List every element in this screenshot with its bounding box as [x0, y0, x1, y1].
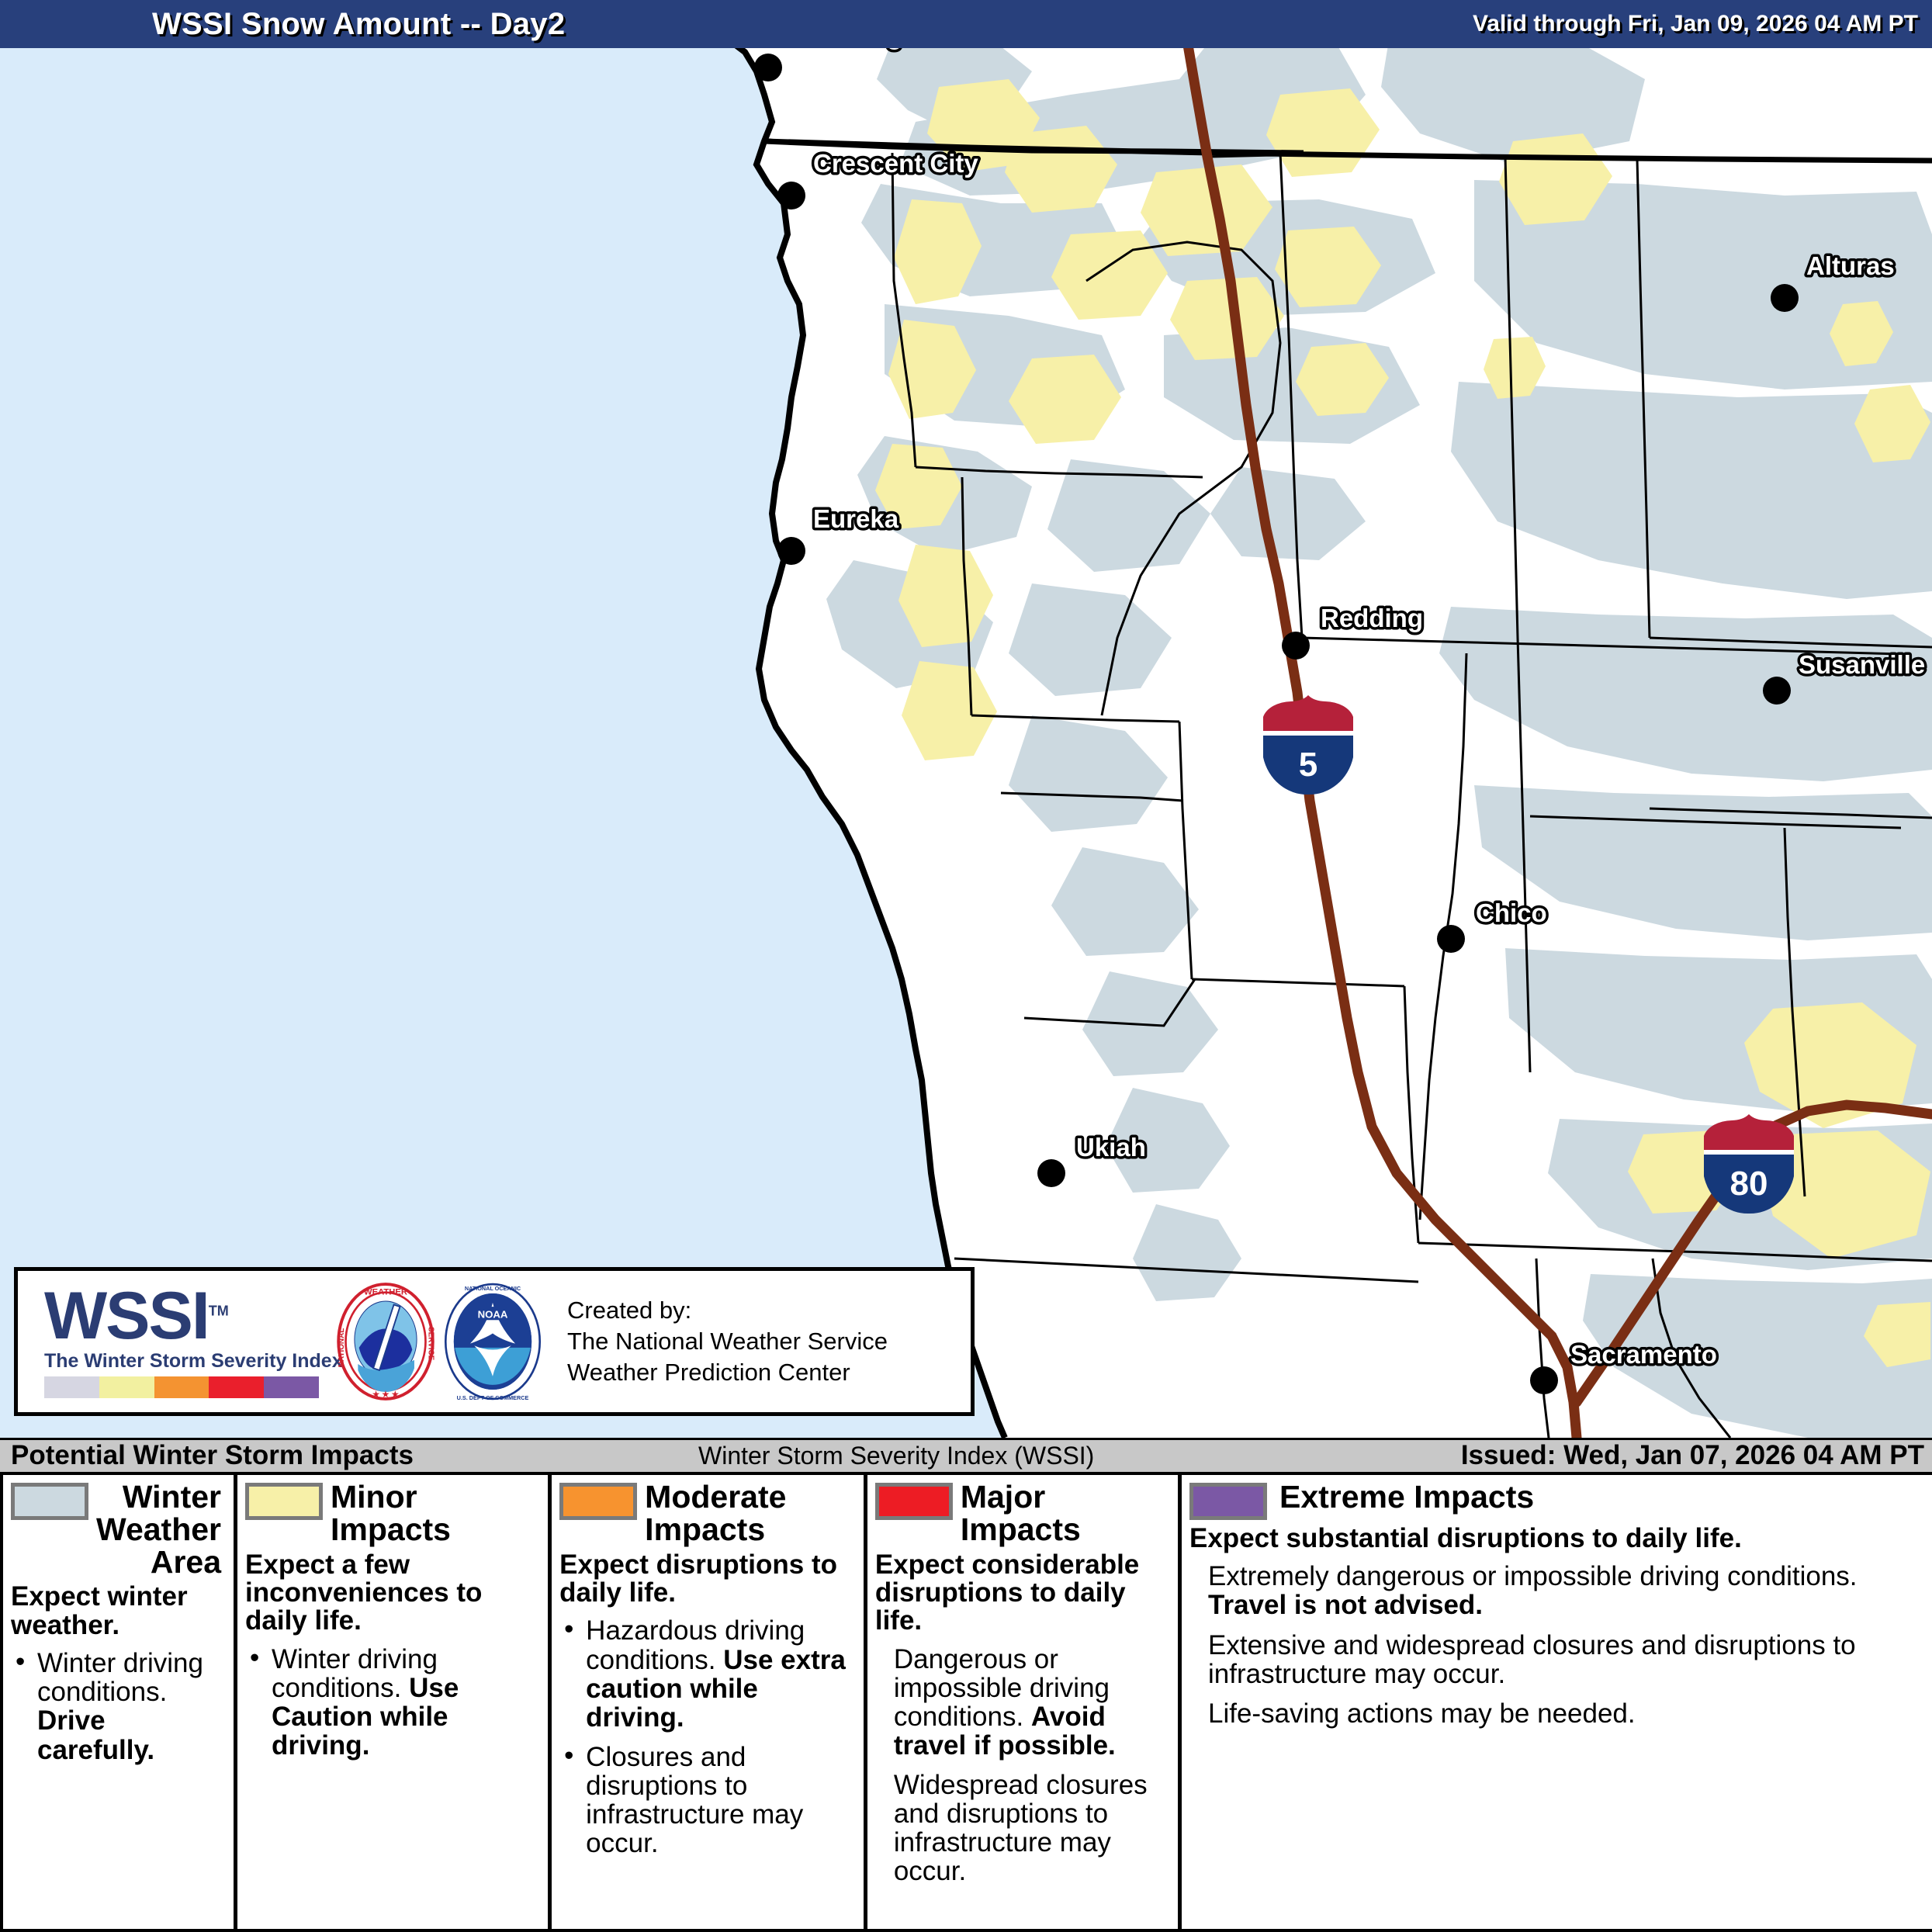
city-label: Susanville [1799, 650, 1925, 679]
legend-header: Major Impacts [875, 1481, 1172, 1546]
created-by-line-3: Weather Prediction Center [567, 1357, 888, 1388]
wssi-subtitle-label: Winter Storm Severity Index (WSSI) [698, 1441, 1094, 1470]
wssi-tagline: The Winter Storm Severity Index [44, 1350, 328, 1373]
wssi-logo-panel: WSSITM The Winter Storm Severity Index W… [14, 1267, 975, 1416]
legend-category-name: Winter Weather Area [96, 1481, 227, 1578]
svg-text:U.S. DEPT OF COMMERCE: U.S. DEPT OF COMMERCE [457, 1394, 529, 1401]
created-by-line-2: The National Weather Service [567, 1326, 888, 1357]
legend-summary: Expect a few inconveniences to daily lif… [245, 1551, 542, 1636]
legend-bullet-emphasis: Drive carefully. [37, 1705, 154, 1764]
legend-bullet: Extremely dangerous or impossible drivin… [1189, 1562, 1926, 1619]
legend-column-extreme-impacts: Extreme ImpactsExpect substantial disrup… [1182, 1475, 1932, 1929]
trademark-symbol: TM [209, 1304, 229, 1319]
wssi-map-page: WSSI Snow Amount -- Day2 Valid through F… [0, 0, 1932, 1932]
city-label: Redding [1321, 604, 1423, 632]
map-canvas[interactable]: 5 80 BrookingsCrescent CityEurekaAlturas… [0, 48, 1932, 1438]
legend-bullet: Life-saving actions may be needed. [1189, 1699, 1926, 1728]
legend-color-swatch [1189, 1483, 1267, 1520]
legend-header: Winter Weather Area [11, 1481, 227, 1578]
legend-bullet-list: Dangerous or impossible driving conditio… [875, 1645, 1172, 1886]
legend-header: Extreme Impacts [1189, 1481, 1926, 1520]
brand-swatch-3 [209, 1376, 264, 1398]
legend-bullet-list: Winter driving conditions. Drive careful… [11, 1649, 227, 1764]
wssi-color-scale [44, 1376, 319, 1398]
svg-text:NATIONAL: NATIONAL [338, 1328, 346, 1367]
legend-category-name: Major Impacts [961, 1481, 1172, 1546]
legend-bullet-emphasis: Travel is not advised. [1208, 1590, 1483, 1620]
legend-bullet-text: Extremely dangerous or impossible drivin… [1208, 1561, 1858, 1591]
legend-bullet: Closures and disruptions to infrastructu… [559, 1743, 857, 1858]
legend-bullet-list: Extremely dangerous or impossible drivin… [1189, 1562, 1926, 1727]
page-title: WSSI Snow Amount -- Day2 [152, 7, 565, 42]
legend-column-winter-weather-area: Winter Weather AreaExpect winter weather… [0, 1475, 237, 1929]
city-dot [1037, 1159, 1065, 1187]
city-dot [1530, 1366, 1558, 1394]
brand-swatch-4 [264, 1376, 319, 1398]
svg-text:NATIONAL OCEANIC: NATIONAL OCEANIC [465, 1285, 521, 1292]
created-by-line-1: Created by: [567, 1295, 888, 1326]
brand-swatch-2 [154, 1376, 209, 1398]
legend-header: Moderate Impacts [559, 1481, 857, 1546]
legend-column-minor-impacts: Minor ImpactsExpect a few inconveniences… [237, 1475, 552, 1929]
legend-column-major-impacts: Major ImpactsExpect considerable disrupt… [867, 1475, 1182, 1929]
legend-color-swatch [559, 1483, 637, 1520]
legend-bullet: Dangerous or impossible driving conditio… [875, 1645, 1172, 1760]
city-dot [1763, 677, 1791, 705]
legend-bullet-text: Extensive and widespread closures and di… [1208, 1630, 1856, 1689]
svg-text:★ ★ ★: ★ ★ ★ [372, 1390, 400, 1399]
interstate-shield-80: 80 [1704, 1114, 1794, 1214]
legend-header: Minor Impacts [245, 1481, 542, 1546]
noaa-seal-icon: NOAA NATIONAL OCEANIC U.S. DEPT OF COMME… [441, 1279, 544, 1404]
city-label: Brookings [790, 48, 916, 50]
legend-color-swatch [245, 1483, 323, 1520]
created-by-block: Created by: The National Weather Service… [567, 1295, 888, 1389]
svg-text:5: 5 [1299, 746, 1317, 784]
city-label: Alturas [1806, 251, 1895, 280]
legend-bullet-text: Winter driving conditions. [37, 1648, 203, 1707]
legend-color-swatch [11, 1483, 88, 1520]
city-dot [1437, 925, 1465, 953]
svg-text:NOAA: NOAA [478, 1309, 508, 1321]
city-label: Eureka [813, 504, 899, 533]
city-label: Crescent City [813, 149, 978, 178]
city-label: Ukiah [1076, 1133, 1146, 1162]
legend-category-name: Minor Impacts [331, 1481, 542, 1546]
city-label: Chico [1476, 898, 1547, 927]
legend-bullet: Hazardous driving conditions. Use extra … [559, 1616, 857, 1731]
svg-text:80: 80 [1730, 1165, 1768, 1203]
header-bar: WSSI Snow Amount -- Day2 Valid through F… [0, 0, 1932, 48]
legend-bullet: Winter driving conditions. Drive careful… [11, 1649, 227, 1764]
svg-text:WEATHER: WEATHER [364, 1287, 407, 1297]
valid-through-text: Valid through Fri, Jan 09, 2026 04 AM PT [1473, 11, 1918, 37]
wssi-wordmark: WSSITM [44, 1285, 328, 1349]
brand-swatch-0 [44, 1376, 99, 1398]
legend-bullet-list: Hazardous driving conditions. Use extra … [559, 1616, 857, 1858]
legend-category-name: Extreme Impacts [1275, 1481, 1926, 1514]
legend-bullet-text: Widespread closures and disruptions to i… [894, 1770, 1148, 1886]
svg-text:SERVICE: SERVICE [426, 1327, 435, 1361]
city-dot [1282, 632, 1310, 660]
city-dot [777, 182, 805, 209]
legend-bullet: Winter driving conditions. Use Caution w… [245, 1645, 542, 1760]
legend-summary: Expect winter weather. [11, 1583, 227, 1639]
agency-seals: WEATHER ★ ★ ★ NATIONAL SERVICE NOAA NATI… [334, 1279, 544, 1404]
legend-bullet: Widespread closures and disruptions to i… [875, 1771, 1172, 1885]
interstate-shield-5: 5 [1263, 695, 1353, 795]
legend-bullet-text: Closures and disruptions to infrastructu… [586, 1742, 803, 1858]
legend-column-moderate-impacts: Moderate ImpactsExpect disruptions to da… [552, 1475, 867, 1929]
legend-summary: Expect substantial disruptions to daily … [1189, 1525, 1926, 1553]
legend-bullet-text: Life-saving actions may be needed. [1208, 1698, 1636, 1729]
map-svg: 5 80 BrookingsCrescent CityEurekaAlturas… [0, 48, 1932, 1438]
legend-summary: Expect considerable disruptions to daily… [875, 1551, 1172, 1636]
city-dot [1771, 284, 1799, 312]
wssi-brand-mark: WSSITM The Winter Storm Severity Index [18, 1285, 328, 1398]
legend-summary: Expect disruptions to daily life. [559, 1551, 857, 1608]
city-dot [754, 54, 782, 81]
city-label: Sacramento [1570, 1340, 1717, 1369]
legend-bullet-list: Winter driving conditions. Use Caution w… [245, 1645, 542, 1760]
legend-color-swatch [875, 1483, 953, 1520]
nws-seal-icon: WEATHER ★ ★ ★ NATIONAL SERVICE [334, 1279, 437, 1404]
impact-legend: Winter Weather AreaExpect winter weather… [0, 1475, 1932, 1932]
legend-bullet: Extensive and widespread closures and di… [1189, 1631, 1926, 1688]
potential-impacts-label: Potential Winter Storm Impacts [11, 1440, 414, 1471]
city-dot [777, 537, 805, 565]
legend-category-name: Moderate Impacts [645, 1481, 857, 1546]
issued-timestamp: Issued: Wed, Jan 07, 2026 04 AM PT [1461, 1440, 1924, 1471]
status-bar: Potential Winter Storm Impacts Winter St… [0, 1438, 1932, 1475]
brand-swatch-1 [99, 1376, 154, 1398]
